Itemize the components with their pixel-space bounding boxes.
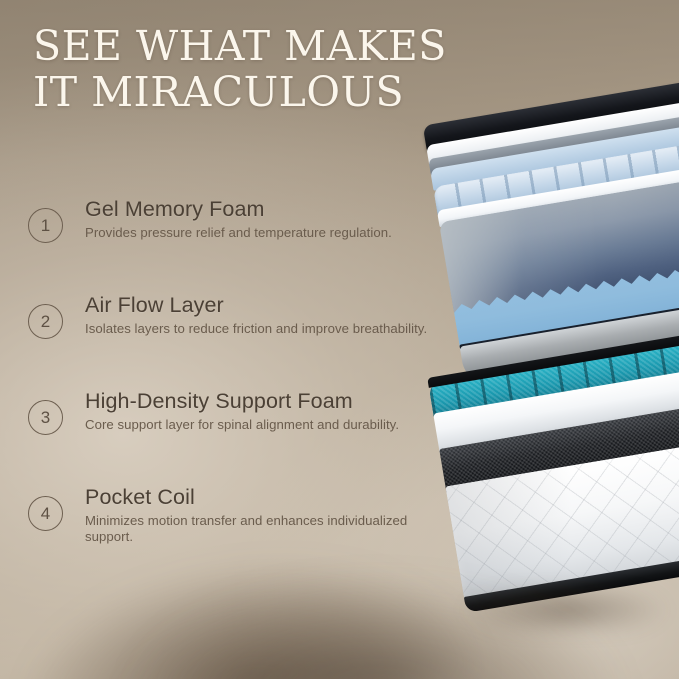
number-badge-label: 1 bbox=[41, 216, 50, 236]
mattress-cutaway-image bbox=[400, 70, 679, 630]
number-badge-2: 2 bbox=[28, 304, 63, 339]
mattress-upper-stack bbox=[377, 47, 679, 392]
infographic-canvas: SEE WHAT MAKES IT MIRACULOUS 1 Gel Memor… bbox=[0, 0, 679, 679]
feature-item-2: 2 Air Flow Layer Isolates layers to redu… bbox=[28, 293, 458, 349]
number-badge-label: 3 bbox=[41, 408, 50, 428]
feature-item-4: 4 Pocket Coil Minimizes motion transfer … bbox=[28, 485, 458, 546]
product-drop-shadow bbox=[420, 590, 679, 630]
number-badge-1: 1 bbox=[28, 208, 63, 243]
feature-item-1: 1 Gel Memory Foam Provides pressure reli… bbox=[28, 197, 458, 253]
number-badge-4: 4 bbox=[28, 496, 63, 531]
number-badge-3: 3 bbox=[28, 400, 63, 435]
number-badge-label: 2 bbox=[41, 312, 50, 332]
feature-list: 1 Gel Memory Foam Provides pressure reli… bbox=[28, 197, 458, 546]
number-badge-label: 4 bbox=[41, 504, 50, 524]
